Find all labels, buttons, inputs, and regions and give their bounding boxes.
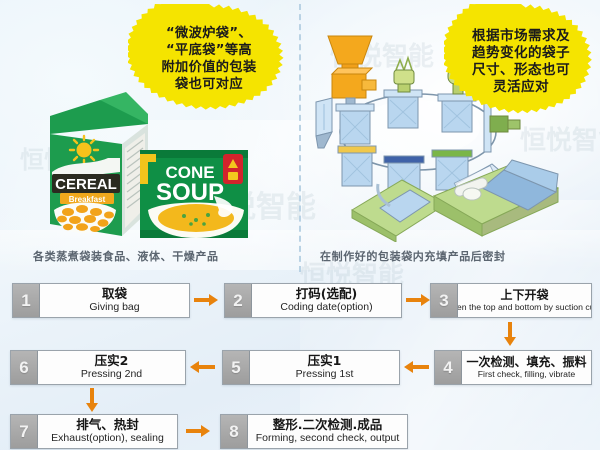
callout-left-line-1: “微波炉袋”、 [161, 26, 256, 43]
callout-right-line-1: 根据市场需求及 [472, 28, 570, 45]
step-number: 4 [435, 351, 462, 384]
arrow-1-to-2 [194, 294, 220, 306]
step-number: 2 [225, 284, 252, 317]
callout-left-line-2: “平底袋”等高 [161, 43, 256, 60]
flow-step-2[interactable]: 2 打码(选配) Coding date(option) [224, 283, 402, 318]
flow-step-4[interactable]: 4 一次检测、填充、振料 First check, filling, vibra… [434, 350, 592, 385]
step-number: 7 [11, 415, 38, 448]
step-label-en: Coding date(option) [280, 302, 372, 314]
packaging-process-infographic: 恒悦智能 恒悦智能 恒悦智能 恒悦智能 恒悦智能 [0, 0, 600, 450]
callout-right-line-2: 趋势变化的袋子 [472, 45, 570, 62]
caption-right: 在制作好的包装袋内充填产品后密封 [320, 248, 506, 264]
step-number: 1 [13, 284, 40, 317]
callout-left-line-4: 袋也可对应 [161, 77, 256, 94]
step-label-en: Giving bag [89, 302, 139, 314]
callout-badge-right: 根据市场需求及 趋势变化的袋子 尺寸、形态也可 灵活应对 [444, 4, 598, 120]
callout-badge-left: “微波炉袋”、 “平底袋”等高 附加价值的包装 袋也可对应 [128, 4, 290, 116]
step-number: 6 [11, 351, 38, 384]
section-divider [299, 4, 301, 272]
arrow-6-to-7 [86, 388, 98, 414]
callout-left-line-3: 附加价值的包装 [161, 60, 256, 77]
conveyor-belt-icon [352, 180, 446, 242]
step-label-cn: 上下开袋 [500, 289, 548, 302]
step-number: 5 [223, 351, 250, 384]
flow-step-6[interactable]: 6 压实2 Pressing 2nd [10, 350, 186, 385]
flow-step-7[interactable]: 7 排气、热封 Exhaust(option), sealing [10, 414, 178, 449]
flow-step-5[interactable]: 5 压实1 Pressing 1st [222, 350, 400, 385]
flow-step-1[interactable]: 1 取袋 Giving bag [12, 283, 190, 318]
arrow-4-to-5 [404, 361, 430, 373]
step-label-cn: 打码(选配) [296, 287, 357, 301]
step-label-en: Open the top and bottom by suction cups [458, 303, 591, 313]
step-label-cn: 取袋 [102, 287, 127, 301]
step-label-en: Pressing 2nd [81, 369, 142, 381]
step-label-en: Pressing 1st [296, 369, 354, 381]
step-label-en: Exhaust(option), sealing [51, 433, 164, 445]
arrow-5-to-6 [190, 361, 216, 373]
step-label-cn: 整形.二次检测.成品 [273, 418, 383, 432]
step-label-en: First check, filling, vibrate [478, 370, 576, 380]
arrow-3-to-4 [504, 322, 516, 348]
soup-line-2: SOUP [156, 179, 224, 206]
cereal-title: CEREAL [55, 176, 117, 193]
step-label-cn: 排气、热封 [76, 418, 139, 432]
caption-left: 各类蒸煮袋装食品、液体、干燥产品 [33, 248, 219, 264]
step-label-en: Forming, second check, output [256, 433, 400, 445]
flow-step-8[interactable]: 8 整形.二次检测.成品 Forming, second check, outp… [220, 414, 408, 449]
step-number: 3 [431, 284, 458, 317]
step-label-cn: 压实2 [95, 354, 129, 368]
step-number: 8 [221, 415, 248, 448]
callout-right-line-4: 灵活应对 [472, 79, 570, 96]
flow-step-3[interactable]: 3 上下开袋 Open the top and bottom by suctio… [430, 283, 592, 318]
step-label-cn: 一次检测、填充、振料 [466, 356, 586, 369]
soup-pouch-icon: CONE SOUP [140, 150, 248, 238]
callout-right-line-3: 尺寸、形态也可 [472, 62, 570, 79]
step-label-cn: 压实1 [308, 354, 342, 368]
arrow-2-to-3 [406, 294, 432, 306]
arrow-7-to-8 [186, 425, 212, 437]
